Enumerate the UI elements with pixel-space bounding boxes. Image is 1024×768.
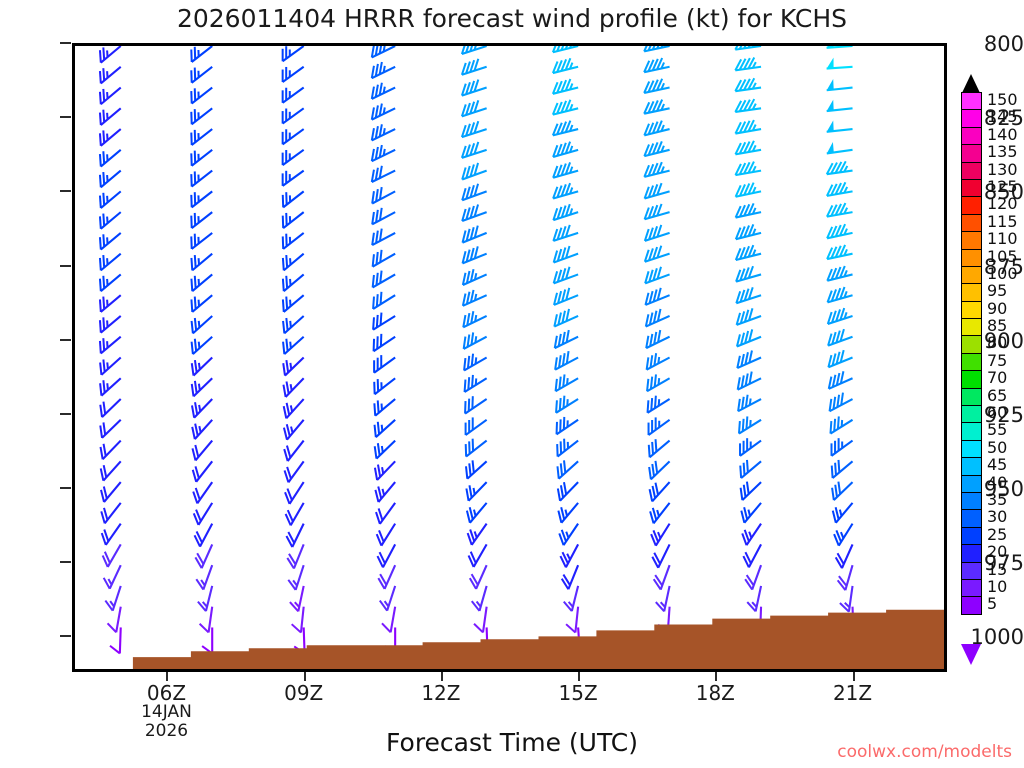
wind-barb (647, 374, 670, 391)
wind-barb (373, 313, 395, 330)
barb-stroke (382, 425, 383, 432)
wind-barb (373, 250, 396, 267)
wind-barb (374, 334, 396, 351)
wind-barb (378, 565, 395, 589)
barb-stroke (288, 461, 303, 482)
colorbar-bottom-cap (961, 644, 981, 665)
barb-stroke (747, 482, 749, 494)
wind-barb (747, 586, 761, 611)
barb-stroke (558, 511, 561, 523)
barb-stroke (286, 297, 287, 309)
wind-barb (100, 67, 121, 84)
barb-stroke (378, 443, 380, 455)
wind-barb (372, 187, 395, 204)
barb-stroke (656, 439, 657, 451)
barb-stroke (373, 297, 374, 309)
colorbar-label: 130 (987, 162, 1018, 178)
wind-barb (557, 460, 578, 478)
barb-stroke (290, 342, 291, 349)
barb-stroke (110, 601, 114, 606)
barb-stroke (752, 602, 756, 607)
wind-barb (645, 246, 670, 262)
wind-barb (100, 108, 121, 125)
colorbar-cell: 30 (961, 509, 982, 527)
barb-stroke (655, 483, 658, 495)
wind-barb (100, 150, 121, 167)
barb-stroke (736, 274, 761, 281)
wind-barb (100, 46, 121, 63)
colorbar-label: 135 (987, 144, 1018, 160)
barb-stroke (203, 565, 212, 589)
barb-stroke (200, 624, 209, 633)
colorbar-cell: 150 (961, 92, 982, 110)
colorbar-label: 55 (987, 422, 1007, 438)
barb-stroke (838, 482, 840, 494)
barb-stroke (462, 129, 487, 137)
barb-stroke (100, 71, 101, 83)
barb-stroke (284, 449, 287, 461)
wind-barb (827, 46, 853, 48)
wind-barb (198, 586, 212, 611)
wind-barb (827, 245, 852, 259)
wind-barb (556, 374, 579, 391)
colorbar-cell: 40 (961, 475, 982, 493)
barb-stroke (653, 486, 656, 498)
wind-barb (553, 225, 578, 241)
colorbar-cell: 105 (961, 249, 982, 267)
wind-barb (192, 399, 212, 418)
wind-barb (553, 58, 578, 73)
barb-stroke (283, 342, 284, 354)
wind-barb (283, 108, 304, 123)
barb-stroke (291, 503, 304, 526)
barb-stroke (195, 360, 197, 372)
barb-stroke (195, 339, 196, 351)
colorbar-cell: 130 (961, 162, 982, 180)
wind-barb (287, 544, 303, 568)
barb-stroke (384, 128, 385, 135)
barb-stroke (201, 580, 205, 585)
barb-stroke (100, 133, 101, 145)
barb-stroke (385, 601, 389, 606)
barb-stroke (384, 66, 385, 73)
barb-stroke (564, 482, 566, 494)
barb-stroke (100, 425, 102, 437)
x-tick-mark (715, 672, 717, 681)
barb-stroke (192, 363, 194, 375)
barb-stroke (645, 212, 670, 219)
barb-stroke (203, 602, 207, 607)
barb-stroke (650, 511, 653, 523)
barb-stroke (741, 511, 744, 523)
barb-stroke (750, 399, 751, 406)
barb-stroke (191, 279, 192, 291)
barb-stroke (473, 460, 474, 472)
barb-stroke (649, 445, 650, 457)
wind-barb (101, 461, 121, 480)
barb-stroke (462, 150, 487, 158)
colorbar-cell: 5 (961, 596, 982, 614)
wind-barb (100, 358, 121, 375)
barb-stroke (752, 565, 761, 589)
wind-barb (559, 524, 578, 546)
wind-barb (283, 316, 304, 333)
barb-stroke (103, 47, 104, 59)
barb-stroke (377, 315, 378, 327)
barb-stroke (196, 441, 213, 461)
wind-barb (830, 393, 853, 412)
wind-barb (468, 524, 487, 545)
barb-stroke (655, 461, 657, 473)
barb-stroke (560, 398, 561, 410)
barb-stroke (567, 554, 570, 560)
wind-barb (100, 191, 121, 208)
barb-stroke (462, 108, 487, 116)
barb-stroke (375, 425, 376, 437)
wind-barb (648, 396, 670, 413)
barb-stroke (378, 487, 381, 499)
wind-barb (466, 460, 487, 478)
barb-stroke (196, 461, 212, 481)
wind-barb (553, 79, 578, 94)
barb-stroke (744, 503, 761, 523)
wind-barb (284, 399, 304, 418)
wind-barb (645, 288, 669, 305)
barb-stroke (103, 151, 104, 163)
barb-stroke (373, 254, 374, 266)
colorbar-label: 10 (987, 579, 1007, 595)
barb-stroke (195, 297, 196, 309)
wind-barb (467, 503, 487, 523)
barb-stroke (474, 510, 476, 516)
wind-barb (556, 396, 578, 413)
wind-barb (374, 378, 395, 394)
barb-stroke (384, 107, 385, 114)
barb-stroke (286, 360, 288, 372)
wind-barb (286, 524, 303, 547)
barb-stroke (553, 191, 578, 198)
wind-barb (283, 67, 304, 82)
colorbar-label: 50 (987, 440, 1007, 456)
barb-stroke (381, 292, 382, 304)
wind-barb (736, 183, 761, 197)
wind-barb (191, 129, 212, 145)
wind-barb (470, 565, 487, 589)
barb-stroke (747, 524, 762, 546)
colorbar-cell: 75 (961, 353, 982, 371)
barb-stroke (378, 482, 395, 502)
wind-barb (283, 46, 304, 61)
barb-stroke (744, 463, 745, 475)
wind-barb (100, 212, 121, 229)
barb-stroke (192, 321, 193, 333)
wind-barb (101, 503, 120, 523)
barb-stroke (645, 254, 670, 262)
barb-stroke (564, 396, 565, 408)
barb-stroke (295, 602, 299, 607)
wind-barb (463, 226, 487, 243)
page-title: 2026011404 HRRR forecast wind profile (k… (0, 4, 1024, 33)
barb-stroke (477, 602, 481, 607)
barb-stroke (291, 405, 292, 411)
wind-barb (462, 46, 487, 54)
wind-barb (191, 233, 212, 249)
wind-barb (827, 266, 852, 281)
wind-barb (649, 417, 670, 435)
wind-barb (464, 332, 487, 349)
barb-stroke (569, 602, 573, 607)
wind-barb (372, 104, 395, 120)
barb-stroke (287, 381, 289, 393)
barb-stroke (554, 254, 578, 263)
wind-barb (193, 461, 212, 481)
barb-stroke (100, 50, 101, 62)
wind-barb (284, 420, 304, 440)
wind-barb (738, 372, 761, 390)
wind-barb (553, 183, 578, 198)
barb-stroke (378, 422, 379, 434)
barb-stroke (113, 586, 121, 611)
barb-stroke (559, 377, 560, 389)
barb-stroke (100, 237, 101, 249)
barb-stroke (283, 363, 285, 375)
wind-barb (283, 295, 304, 312)
barb-stroke (199, 342, 200, 349)
barb-stroke (195, 466, 198, 478)
barb-stroke (739, 421, 740, 433)
x-tick-mark (853, 672, 855, 681)
barb-stroke (476, 357, 477, 364)
wind-barb (462, 100, 487, 116)
wind-barb (742, 524, 761, 546)
wind-barb (100, 399, 120, 417)
colorbar-label: 80 (987, 335, 1007, 351)
wind-barb (105, 586, 120, 611)
barb-stroke (101, 468, 104, 480)
barb-stroke (749, 532, 751, 538)
barb-stroke (658, 378, 659, 385)
wind-barb (647, 353, 670, 370)
barb-stroke (376, 252, 377, 264)
wind-barb (375, 461, 395, 480)
barb-stroke (100, 341, 101, 353)
barb-stroke (108, 544, 121, 567)
wind-barb (375, 482, 395, 502)
barb-stroke (832, 466, 833, 478)
barb-stroke (291, 384, 292, 391)
wind-barb (735, 162, 761, 176)
barb-stroke (103, 276, 104, 288)
barb-stroke (100, 383, 101, 395)
barb-stroke (286, 399, 303, 418)
barb-stroke (472, 524, 487, 545)
wind-barb (463, 246, 487, 263)
wind-barb (191, 46, 212, 62)
wind-barb (656, 586, 670, 611)
barb-stroke (470, 503, 487, 523)
barb-stroke (568, 565, 578, 589)
barb-stroke (554, 274, 578, 283)
barb-stroke (286, 318, 287, 330)
barb-stroke (108, 579, 111, 585)
y-tick-mark (60, 635, 71, 637)
colorbar-cell: 90 (961, 301, 982, 319)
wind-barb (372, 46, 395, 57)
barb-stroke (100, 113, 101, 125)
wind-barb (832, 460, 853, 478)
wind-barb (827, 182, 853, 196)
colorbar-label: 115 (987, 214, 1018, 230)
barb-stroke (833, 511, 836, 523)
barb-stroke (374, 403, 375, 415)
barb-stroke (650, 489, 653, 501)
colorbar-label: 120 (987, 196, 1018, 212)
barb-stroke (199, 321, 200, 328)
wind-barb (101, 482, 121, 502)
barb-stroke (834, 419, 835, 431)
wind-barb (558, 503, 578, 523)
barb-stroke (563, 374, 564, 386)
colorbar-label: 105 (987, 249, 1018, 265)
barb-stroke (475, 336, 476, 343)
wind-barb (736, 266, 761, 281)
wind-barb (286, 503, 304, 526)
barb-stroke (378, 465, 380, 477)
barb-stroke (561, 503, 578, 523)
wind-barb (375, 441, 395, 459)
barb-stroke (290, 363, 291, 370)
barb-stroke (476, 565, 487, 589)
y-tick-label: 800 (966, 32, 1024, 56)
barb-stroke (193, 470, 196, 482)
wind-barb (554, 267, 578, 284)
barb-stroke (287, 420, 304, 440)
barb-stroke (195, 445, 198, 457)
barb-stroke (566, 532, 568, 538)
barb-stroke (199, 363, 200, 370)
barb-stroke (103, 68, 104, 80)
barb-stroke (835, 463, 836, 475)
barb-stroke (557, 466, 558, 478)
barb-stroke (103, 360, 104, 372)
barb-stroke (380, 271, 381, 283)
colorbar-label: 145 (987, 109, 1018, 125)
barb-stroke (287, 403, 290, 415)
x-tick-label: 09Z (259, 681, 349, 705)
barb-stroke (283, 299, 284, 311)
wind-barb (103, 544, 121, 567)
wind-barb (554, 309, 578, 327)
x-tick-label: 21Z (808, 681, 898, 705)
wind-barb (283, 191, 304, 207)
wind-barb (649, 461, 669, 479)
wind-barb (373, 292, 395, 309)
wind-barb (644, 58, 669, 72)
barb-stroke (561, 485, 563, 497)
colorbar-label: 40 (987, 475, 1007, 491)
barb-stroke (375, 446, 377, 458)
wind-barb (104, 565, 121, 589)
wind-barb (646, 330, 669, 348)
barb-stroke (841, 532, 843, 538)
barb-stroke (294, 544, 304, 568)
barb-stroke (475, 531, 477, 537)
barb-stroke (830, 421, 831, 433)
barb-stroke (462, 88, 487, 96)
wind-barb (827, 121, 853, 132)
barb-stroke (472, 354, 473, 366)
barb-stroke (192, 384, 194, 396)
barb-stroke (103, 255, 104, 267)
wind-barb (283, 212, 304, 228)
wind-barb (466, 482, 486, 501)
wind-barb (740, 460, 761, 478)
barb-stroke (647, 379, 648, 391)
colorbar-label: 140 (987, 127, 1018, 143)
wind-barb (735, 120, 761, 134)
barb-stroke (107, 362, 108, 369)
barb-stroke (200, 524, 212, 547)
barb-stroke (474, 488, 475, 495)
barb-stroke (651, 398, 652, 410)
wind-barb (195, 524, 213, 547)
plot-area (72, 43, 947, 672)
wind-barb (462, 142, 487, 158)
wind-barb (373, 271, 396, 288)
barb-stroke (462, 67, 487, 75)
wind-barb (828, 287, 853, 302)
barb-stroke (749, 544, 761, 567)
barb-stroke (372, 171, 395, 182)
barb-flag-50 (827, 58, 834, 69)
barb-stroke (286, 276, 287, 288)
wind-barb (649, 439, 670, 457)
barb-stroke (462, 171, 486, 180)
barb-stroke (649, 467, 651, 479)
y-tick-mark (60, 42, 71, 44)
wind-barb (558, 482, 578, 501)
colorbar-cell: 15 (961, 562, 982, 580)
barb-stroke (836, 507, 839, 519)
wind-barb (283, 233, 304, 249)
barb-stroke (653, 508, 656, 520)
wind-barb (555, 330, 578, 348)
wind-barb (372, 62, 395, 78)
barb-stroke (828, 337, 852, 346)
wind-barb (102, 524, 121, 545)
barb-stroke (284, 428, 287, 440)
wind-barb (564, 586, 578, 611)
barb-stroke (103, 234, 104, 246)
wind-barb (828, 308, 853, 324)
wind-barb (831, 438, 852, 456)
barb-stroke (384, 87, 385, 94)
watermark: coolwx.com/modelts (837, 742, 1012, 762)
barb-stroke (466, 488, 468, 500)
barb-stroke (661, 602, 665, 607)
wind-barb (737, 350, 761, 368)
barb-stroke (747, 460, 748, 472)
barb-stroke (741, 488, 743, 500)
wind-barb (651, 524, 669, 546)
colorbar-label: 125 (987, 179, 1018, 195)
wind-barb (838, 565, 853, 590)
colorbar-cell: 20 (961, 544, 982, 562)
wind-barb (465, 375, 487, 392)
barb-stroke (103, 402, 105, 414)
barb-stroke (565, 510, 567, 516)
wind-barb (737, 308, 761, 325)
